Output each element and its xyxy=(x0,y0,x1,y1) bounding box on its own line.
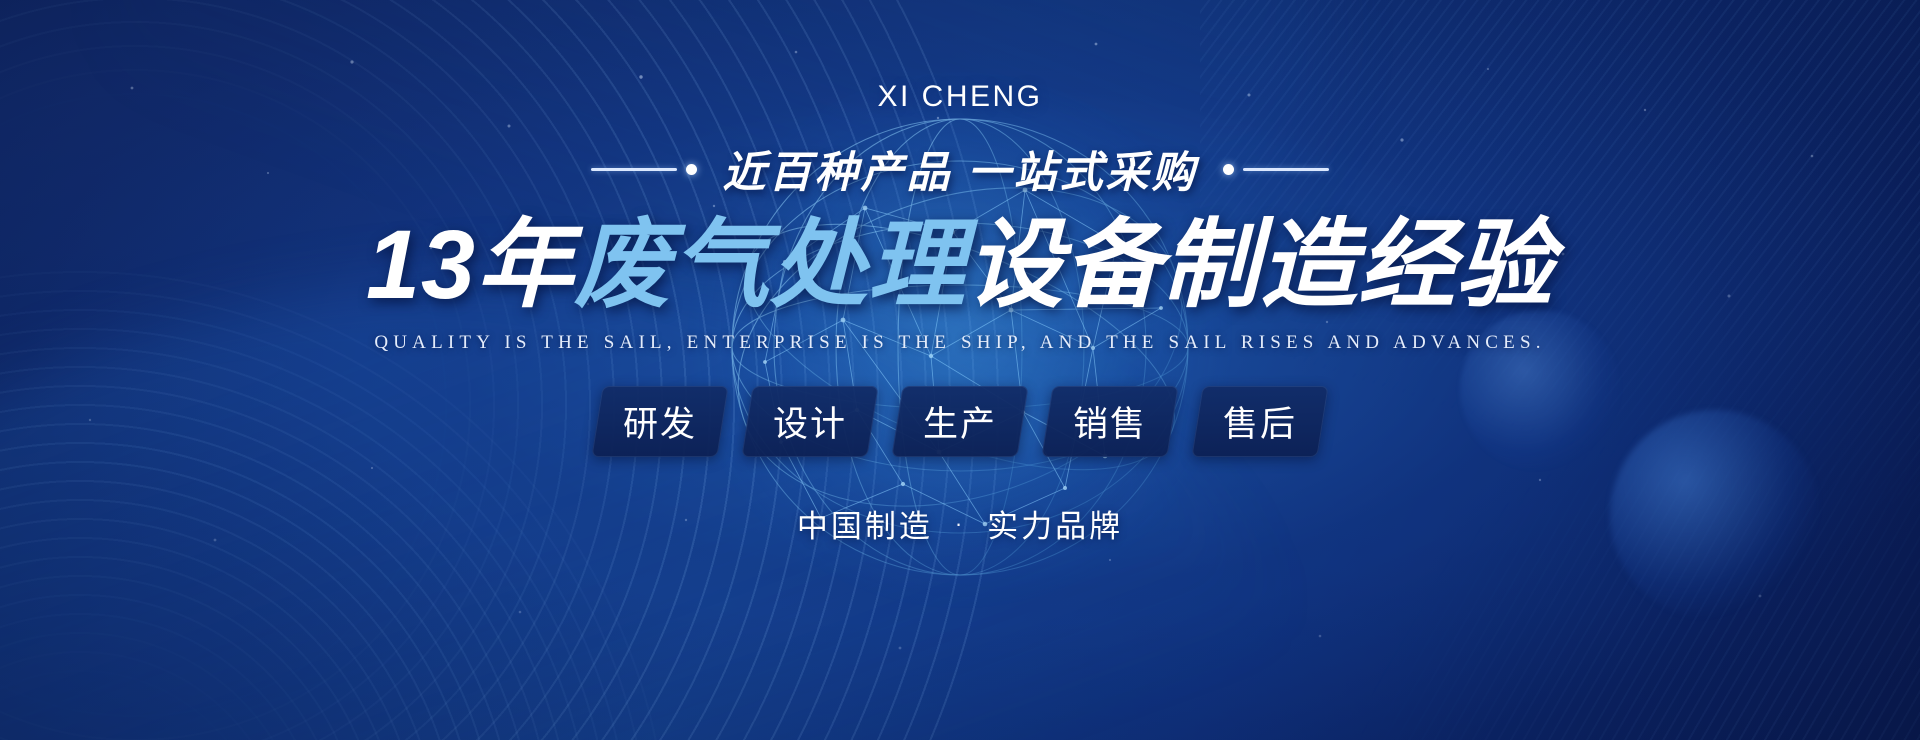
ornament-left-dot xyxy=(686,164,697,175)
footer-slogan-right: 实力品牌 xyxy=(987,501,1123,546)
footer-slogan-separator: · xyxy=(955,511,965,537)
service-tag-sales[interactable]: 销售 xyxy=(1041,386,1178,457)
service-tag-label: 销售 xyxy=(1073,396,1147,447)
banner-subtitle: 近百种产品 一站式采购 xyxy=(723,138,1198,200)
ornament-right-icon xyxy=(1223,164,1329,175)
service-tag-label: 设计 xyxy=(773,396,847,447)
banner-content: XI CHENG 近百种产品 一站式采购 13年废气处理设备制造经验 QUALI… xyxy=(0,0,1920,740)
service-tag-rd[interactable]: 研发 xyxy=(591,386,728,457)
headline-prefix: 13年 xyxy=(366,210,574,319)
subtitle-row: 近百种产品 一站式采购 xyxy=(591,138,1330,200)
ornament-left-bar xyxy=(591,168,677,171)
brand-name-english: XI CHENG xyxy=(877,80,1042,114)
service-tag-label: 生产 xyxy=(923,396,997,447)
service-tag-label: 研发 xyxy=(623,396,697,447)
ornament-right-bar xyxy=(1243,168,1329,171)
headline-suffix: 设备制造经验 xyxy=(966,210,1554,319)
footer-slogan-left: 中国制造 xyxy=(797,501,933,546)
ornament-right-dot xyxy=(1223,164,1234,175)
headline-accent: 废气处理 xyxy=(574,210,966,319)
service-tag-label: 售后 xyxy=(1223,396,1297,447)
banner-footer-slogan: 中国制造 · 实力品牌 xyxy=(797,501,1123,546)
service-tag-design[interactable]: 设计 xyxy=(741,386,878,457)
hero-banner: XI CHENG 近百种产品 一站式采购 13年废气处理设备制造经验 QUALI… xyxy=(0,0,1920,740)
service-tag-list: 研发 设计 生产 销售 售后 xyxy=(597,386,1323,457)
service-tag-aftersales[interactable]: 售后 xyxy=(1191,386,1328,457)
banner-headline: 13年废气处理设备制造经验 xyxy=(366,208,1554,322)
service-tag-production[interactable]: 生产 xyxy=(891,386,1028,457)
banner-tagline-english: QUALITY IS THE SAIL, ENTERPRISE IS THE S… xyxy=(374,332,1545,354)
ornament-left-icon xyxy=(591,164,697,175)
